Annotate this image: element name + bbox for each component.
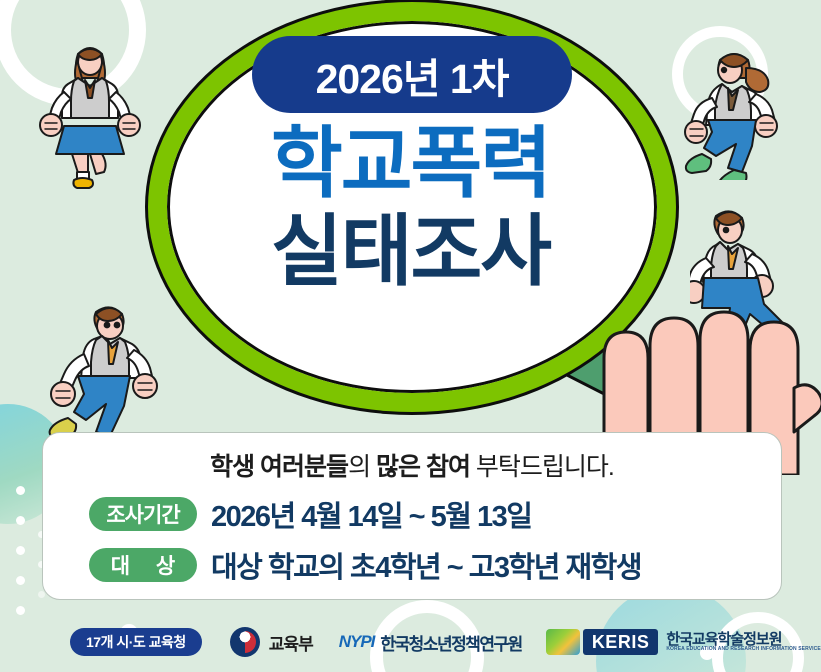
year-badge-label: 2026년 1차: [316, 45, 509, 105]
card-headline-plain-2: 부탁드립니다.: [470, 453, 614, 481]
keris-logo-text: KERIS: [592, 632, 650, 653]
card-headline-plain-1: 의: [348, 453, 376, 481]
card-headline-bold-2: 많은 참여: [376, 453, 470, 481]
label-keris-english: KOREA EDUCATION AND RESEARCH INFORMATION…: [666, 647, 820, 652]
keris-logo-icon: [546, 629, 580, 655]
illustration-running-boy-student: [24, 296, 169, 446]
value-target: 대상 학교의 초4학년 ~ 고3학년 재학생: [211, 544, 641, 586]
decorative-dot: [16, 516, 25, 525]
card-headline-bold-1: 학생 여러분들: [210, 453, 348, 481]
year-badge: 2026년 1차: [252, 36, 572, 113]
label-keris-korean: 한국교육학술정보원: [666, 632, 820, 648]
footer-logos: 17개 시·도 교육청 교육부 NYPI 한국청소년정책연구원 KERIS 한국…: [0, 612, 821, 672]
info-row-target: 대 상 대상 학교의 초4학년 ~ 고3학년 재학생: [89, 544, 781, 586]
decorative-dot: [38, 591, 45, 598]
illustration-running-girl-student: [676, 40, 806, 180]
keris-label-block: 한국교육학술정보원 KOREA EDUCATION AND RESEARCH I…: [666, 632, 820, 653]
info-row-survey-period: 조사기간 2026년 4월 14일 ~ 5월 13일: [89, 493, 781, 535]
decorative-dot: [16, 486, 25, 495]
nypi-logo-mark: NYPI: [339, 632, 375, 652]
decorative-dot: [16, 546, 25, 555]
label-ministry-of-education: 교육부: [269, 630, 313, 655]
illustration-cheering-girl-student: [28, 30, 148, 190]
badge-education-offices: 17개 시·도 교육청: [70, 628, 202, 656]
info-card: 학생 여러분들의 많은 참여 부탁드립니다. 조사기간 2026년 4월 14일…: [42, 432, 782, 600]
taegeuk-icon: [230, 627, 260, 657]
card-headline: 학생 여러분들의 많은 참여 부탁드립니다.: [43, 447, 781, 483]
label-nypi: 한국청소년정책연구원: [380, 630, 521, 655]
label-pill-target: 대 상: [89, 548, 197, 582]
poster-root: 2026년 1차 학교폭력 실태조사: [0, 0, 821, 672]
decorative-dot: [16, 576, 25, 585]
keris-logo-mark: KERIS: [583, 629, 659, 655]
label-pill-survey-period: 조사기간: [89, 497, 197, 531]
value-survey-period: 2026년 4월 14일 ~ 5월 13일: [211, 493, 531, 535]
